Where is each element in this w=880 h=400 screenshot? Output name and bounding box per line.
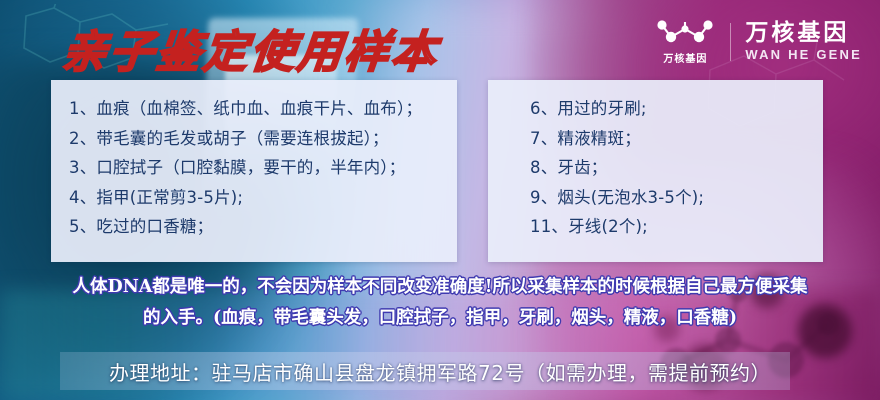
logo-text: 万核基因 WAN HE GENE [745,21,862,62]
list-item: 9、烟头(无泡水3-5个); [530,183,823,213]
list-item: 7、精液精斑； [530,124,823,154]
logo-name-en: WAN HE GENE [745,47,862,63]
logo-mark-caption: 万核基因 [663,50,707,65]
list-item: 6、用过的牙刷; [530,94,823,124]
note-line-2: 的入手。(血痕，带毛囊头发，口腔拭子，指甲，牙刷，烟头，精液，口香糖) [42,303,838,334]
molecule-network-icon [654,18,716,48]
logo-name-cn: 万核基因 [745,21,849,47]
list-item: 3、口腔拭子（口腔黏膜，要干的，半年内）； [69,153,457,183]
promo-banner: 亲子鉴定使用样本 万核基因 [0,0,880,400]
note-paragraph: 人体DNA都是唯一的，不会因为样本不同改变准确度!所以采集样本的时候根据自己最方… [0,272,880,334]
list-item: 11、牙线(2个); [530,212,823,242]
list-item: 8、牙齿； [530,153,823,183]
brand-logo[interactable]: 万核基因 万核基因 WAN HE GENE [654,18,862,65]
note-line-1: 人体DNA都是唯一的，不会因为样本不同改变准确度!所以采集样本的时候根据自己最方… [42,272,838,303]
logo-mark: 万核基因 [654,18,716,65]
sample-list-panel-right: 6、用过的牙刷; 7、精液精斑； 8、牙齿； 9、烟头(无泡水3-5个); 11… [488,80,823,262]
list-item: 1、血痕（血棉签、纸巾血、血痕干片、血布）； [69,94,457,124]
banner-title: 亲子鉴定使用样本 [60,16,443,80]
sample-list-left: 1、血痕（血棉签、纸巾血、血痕干片、血布）； 2、带毛囊的毛发或胡子（需要连根拔… [51,80,457,242]
list-item: 5、吃过的口香糖； [69,212,457,242]
list-item: 4、指甲(正常剪3-5片); [69,183,457,213]
logo-divider [730,23,731,61]
list-item: 2、带毛囊的毛发或胡子（需要连根拔起）； [69,124,457,154]
sample-list-panel-left: 1、血痕（血棉签、纸巾血、血痕干片、血布）； 2、带毛囊的毛发或胡子（需要连根拔… [51,80,457,262]
address-text: 办理地址：驻马店市确山县盘龙镇拥军路72号（如需办理，需提前预约） [0,352,880,390]
sample-list-right: 6、用过的牙刷; 7、精液精斑； 8、牙齿； 9、烟头(无泡水3-5个); 11… [488,80,823,242]
